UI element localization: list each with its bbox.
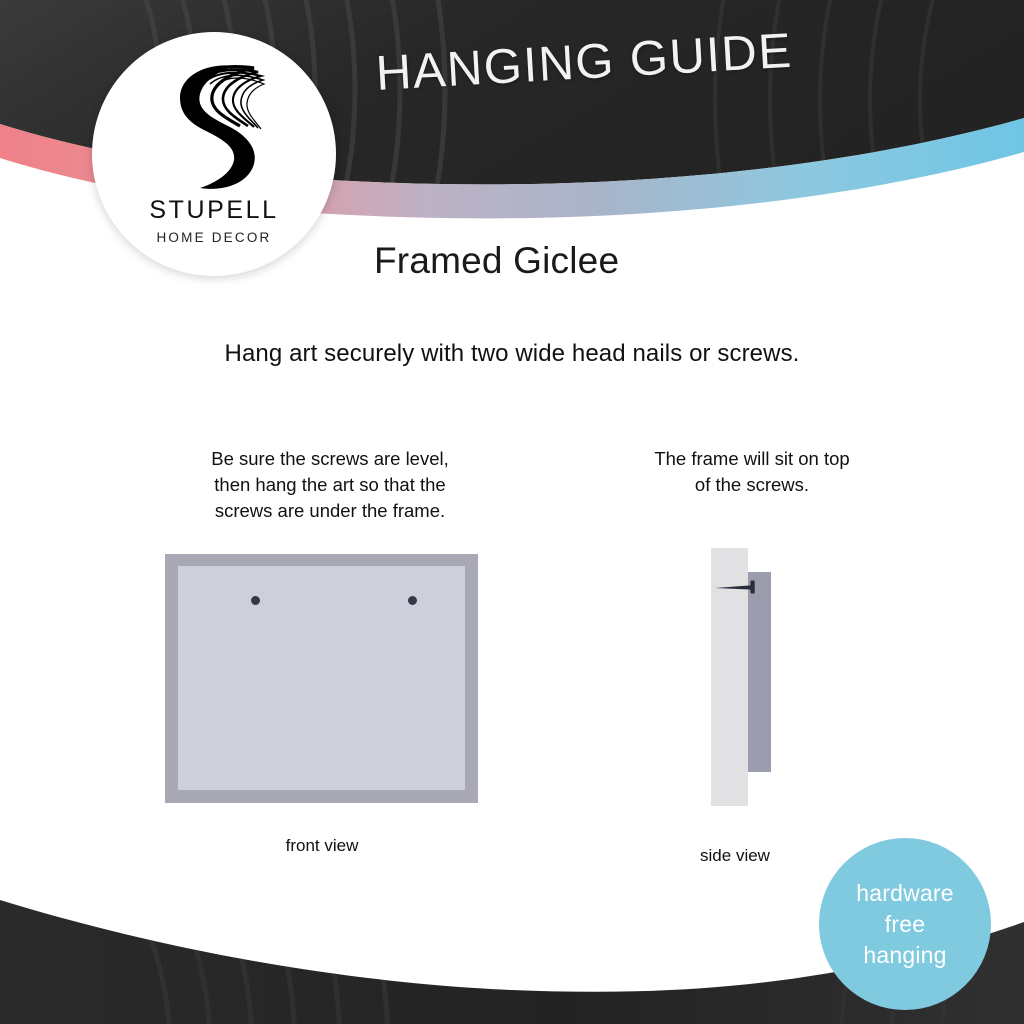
side-view-caption-line-2: of the screws. <box>596 472 908 498</box>
front-view-caption-line-3: screws are under the frame. <box>160 498 500 524</box>
screw-dot-right <box>408 596 417 605</box>
framed-art-side-view-icon <box>748 572 771 772</box>
badge-line-2: free <box>885 909 925 940</box>
lead-instruction: Hang art securely with two wide head nai… <box>225 340 800 368</box>
badge-line-3: hanging <box>863 940 946 971</box>
front-view-caption-line-2: then hang the art so that the <box>160 472 500 498</box>
side-view-caption-line-1: The frame will sit on top <box>596 446 908 472</box>
front-view-label: front view <box>222 836 422 856</box>
badge-line-1: hardware <box>856 878 954 909</box>
framed-art-front-view-icon <box>165 554 478 803</box>
side-view-column: The frame will sit on top of the screws. <box>596 446 908 498</box>
brand-logo-badge: STUPELL HOME DECOR <box>92 32 336 276</box>
front-view-caption-line-1: Be sure the screws are level, <box>160 446 500 472</box>
logo-wordmark: STUPELL <box>149 196 278 225</box>
nail-icon <box>714 578 762 596</box>
product-type-heading: Framed Giclee <box>374 240 619 282</box>
side-view-label: side view <box>655 846 815 866</box>
hardware-free-hanging-badge: hardware free hanging <box>819 838 991 1010</box>
screw-dot-left <box>251 596 260 605</box>
side-view-caption: The frame will sit on top of the screws. <box>596 446 908 498</box>
front-view-caption: Be sure the screws are level, then hang … <box>160 446 500 524</box>
front-view-column: Be sure the screws are level, then hang … <box>160 446 500 524</box>
stupell-swirl-logo-icon <box>150 60 278 192</box>
logo-tagline: HOME DECOR <box>156 230 271 245</box>
page-title: HANGING GUIDE <box>374 23 793 102</box>
front-view-mat <box>178 566 465 790</box>
hanging-guide-page: STUPELL HOME DECOR HANGING GUIDE Framed … <box>0 0 1024 1024</box>
